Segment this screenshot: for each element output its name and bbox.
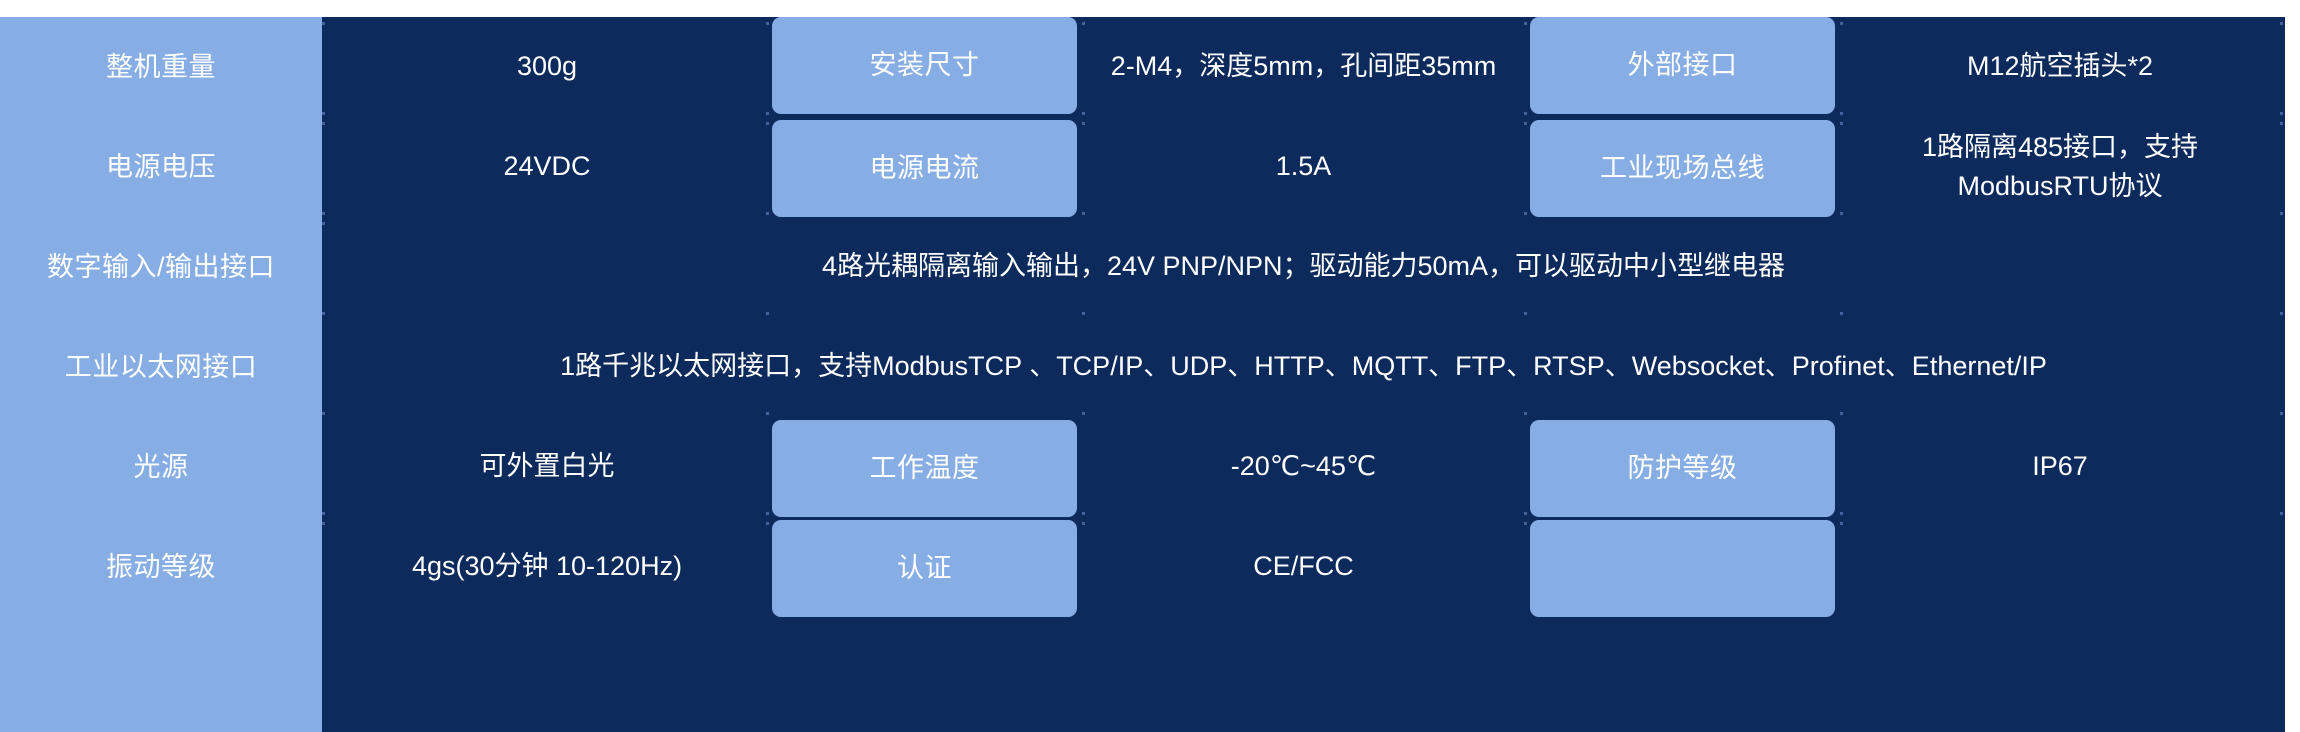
row-label-ethernet-text: 工业以太网接口 — [65, 349, 258, 385]
grid-tick — [1082, 522, 1085, 525]
grid-tick — [1082, 512, 1085, 515]
grid-tick — [766, 212, 769, 215]
row-value-mounting-size[interactable]: 2-M4，深度5mm，孔间距35mm — [1077, 17, 1530, 117]
grid-tick — [1524, 522, 1527, 525]
grid-tick — [2280, 22, 2283, 25]
grid-tick — [322, 112, 325, 115]
grid-tick — [2280, 212, 2283, 215]
grid-tick — [2280, 412, 2283, 415]
grid-tick — [322, 522, 325, 525]
row-value-current[interactable]: 1.5A — [1077, 117, 1530, 217]
row-value-certification[interactable]: CE/FCC — [1077, 517, 1530, 617]
grid-tick — [322, 22, 325, 25]
row-value-external-interface-text: M12航空插头*2 — [1967, 47, 2153, 86]
grid-tick — [1524, 212, 1527, 215]
row-value-mounting-size-text: 2-M4，深度5mm，孔间距35mm — [1111, 47, 1497, 86]
key-chip-mounting-size-text: 安装尺寸 — [870, 47, 980, 83]
row-value-certification-text: CE/FCC — [1253, 547, 1354, 586]
row-value-protection-rating-text: IP67 — [2032, 447, 2088, 486]
grid-tick — [766, 122, 769, 125]
row-label-ethernet[interactable]: 工业以太网接口 — [0, 317, 322, 417]
grid-tick — [322, 122, 325, 125]
grid-tick — [1840, 212, 1843, 215]
row-value-ethernet[interactable]: 1路千兆以太网接口，支持ModbusTCP 、TCP/IP、UDP、HTTP、M… — [322, 317, 2285, 417]
row-label-voltage[interactable]: 电源电压 — [0, 117, 322, 217]
grid-tick — [1524, 22, 1527, 25]
row-label-voltage-text: 电源电压 — [106, 149, 216, 185]
row-value-external-interface[interactable]: M12航空插头*2 — [1835, 17, 2285, 117]
row-value-voltage[interactable]: 24VDC — [322, 117, 772, 217]
key-chip-operating-temperature[interactable]: 工作温度 — [772, 420, 1077, 517]
row-value-weight-text: 300g — [517, 47, 577, 86]
row-value-protection-rating[interactable]: IP67 — [1835, 417, 2285, 517]
key-chip-mounting-size[interactable]: 安装尺寸 — [772, 17, 1077, 114]
row-value-voltage-text: 24VDC — [503, 147, 590, 186]
row-value-digital-io-text: 4路光耦隔离输入输出，24V PNP/NPN；驱动能力50mA，可以驱动中小型继… — [822, 247, 1785, 286]
grid-tick — [1082, 412, 1085, 415]
grid-tick — [1524, 412, 1527, 415]
grid-tick — [322, 212, 325, 215]
grid-tick — [2280, 512, 2283, 515]
key-chip-external-interface-text: 外部接口 — [1628, 47, 1738, 83]
grid-tick — [1840, 412, 1843, 415]
row-value-light-source[interactable]: 可外置白光 — [322, 417, 772, 517]
grid-tick — [1840, 522, 1843, 525]
row-value-operating-temperature[interactable]: -20℃~45℃ — [1077, 417, 1530, 517]
row-value-weight[interactable]: 300g — [322, 17, 772, 117]
grid-tick — [1082, 122, 1085, 125]
key-chip-operating-temperature-text: 工作温度 — [870, 450, 980, 486]
grid-tick — [1082, 112, 1085, 115]
grid-tick — [1840, 22, 1843, 25]
grid-tick — [1840, 112, 1843, 115]
key-chip-fieldbus[interactable]: 工业现场总线 — [1530, 120, 1835, 217]
row-value-empty[interactable] — [1835, 517, 2285, 617]
grid-tick — [1082, 312, 1085, 315]
row-label-light-source-text: 光源 — [134, 449, 189, 485]
grid-tick — [2280, 112, 2283, 115]
key-chip-protection-rating-text: 防护等级 — [1628, 450, 1738, 486]
grid-tick — [2280, 312, 2283, 315]
grid-tick — [766, 412, 769, 415]
key-chip-protection-rating[interactable]: 防护等级 — [1530, 420, 1835, 517]
key-chip-current[interactable]: 电源电流 — [772, 120, 1077, 217]
row-label-weight-text: 整机重量 — [106, 49, 216, 85]
row-value-operating-temperature-text: -20℃~45℃ — [1231, 447, 1376, 486]
grid-tick — [2280, 122, 2283, 125]
grid-tick — [322, 412, 325, 415]
grid-tick — [322, 312, 325, 315]
grid-tick — [766, 312, 769, 315]
key-chip-fieldbus-text: 工业现场总线 — [1600, 150, 1765, 186]
row-label-vibration-text: 振动等级 — [106, 549, 216, 585]
spec-table-slide: 整机重量 300g 安装尺寸 2-M4，深度5mm，孔间距35mm 外部接口 M… — [0, 0, 2300, 732]
grid-tick — [766, 512, 769, 515]
row-value-fieldbus[interactable]: 1路隔离485接口，支持ModbusRTU协议 — [1835, 117, 2285, 217]
grid-tick — [1524, 122, 1527, 125]
grid-tick — [1524, 112, 1527, 115]
grid-tick — [322, 222, 325, 225]
row-value-ethernet-text: 1路千兆以太网接口，支持ModbusTCP 、TCP/IP、UDP、HTTP、M… — [560, 347, 2047, 386]
grid-tick — [1524, 512, 1527, 515]
grid-tick — [1840, 512, 1843, 515]
row-label-weight[interactable]: 整机重量 — [0, 17, 322, 117]
grid-tick — [1082, 22, 1085, 25]
grid-tick — [1524, 312, 1527, 315]
grid-tick — [1840, 122, 1843, 125]
grid-tick — [766, 522, 769, 525]
row-value-fieldbus-text: 1路隔离485接口，支持ModbusRTU协议 — [1875, 128, 2245, 206]
row-value-current-text: 1.5A — [1276, 147, 1332, 186]
row-label-vibration[interactable]: 振动等级 — [0, 517, 322, 617]
row-label-digital-io-text: 数字输入/输出接口 — [47, 249, 275, 285]
key-chip-current-text: 电源电流 — [870, 150, 980, 186]
row-value-vibration-text: 4gs(30分钟 10-120Hz) — [412, 547, 682, 586]
key-chip-empty[interactable] — [1530, 520, 1835, 617]
key-chip-certification-text: 认证 — [897, 550, 952, 586]
grid-tick — [766, 112, 769, 115]
row-label-digital-io[interactable]: 数字输入/输出接口 — [0, 217, 322, 317]
key-chip-external-interface[interactable]: 外部接口 — [1530, 17, 1835, 114]
grid-tick — [766, 22, 769, 25]
grid-tick — [1082, 212, 1085, 215]
grid-tick — [1840, 312, 1843, 315]
row-label-light-source[interactable]: 光源 — [0, 417, 322, 517]
key-chip-certification[interactable]: 认证 — [772, 520, 1077, 617]
row-value-light-source-text: 可外置白光 — [480, 447, 615, 486]
grid-tick — [322, 512, 325, 515]
row-value-vibration[interactable]: 4gs(30分钟 10-120Hz) — [322, 517, 772, 617]
row-value-digital-io[interactable]: 4路光耦隔离输入输出，24V PNP/NPN；驱动能力50mA，可以驱动中小型继… — [322, 217, 2285, 317]
